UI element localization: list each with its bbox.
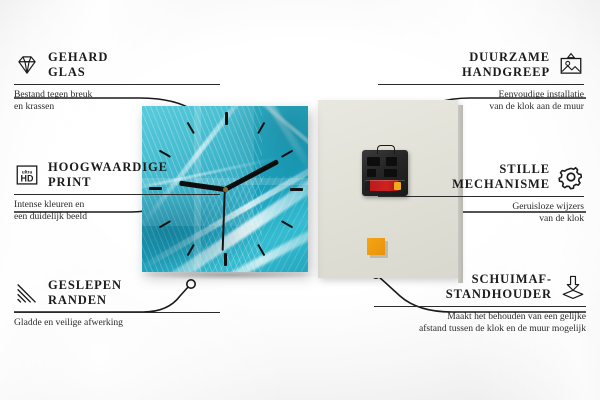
feature-description: Eenvoudige installatie van de klok aan d… (378, 89, 584, 113)
feature-description: Bestand tegen breuk en krassen (14, 89, 220, 113)
feature-title: GESLEPEN RANDEN (48, 278, 122, 307)
feature-desc-line1: Eenvoudige installatie (498, 89, 584, 100)
feature-title-line2: HANDGREEP (462, 65, 550, 79)
feature-divider (378, 84, 584, 85)
feature-title: GEHARD GLAS (48, 50, 108, 79)
feature-title-line1: STILLE (499, 162, 550, 176)
beveled-edge-icon (14, 280, 40, 306)
hour-marker (159, 150, 171, 158)
movement-slot (367, 169, 376, 177)
ultra-hd-icon: ultra HD (14, 162, 40, 188)
feature-desc-line2: een duidelijk beeld (14, 211, 87, 222)
hour-marker (187, 122, 195, 134)
feature-divider (378, 196, 584, 197)
feature-desc-line2: en krassen (14, 101, 54, 112)
feature-desc-line2: afstand tussen de klok en de muur mogeli… (419, 323, 586, 334)
feature-desc-line1: Maakt het behouden van een gelijke (447, 311, 586, 322)
hour-marker (257, 244, 265, 256)
feature-desc-line1: Gladde en veilige afwerking (14, 317, 123, 328)
foam-spacer-pad (367, 238, 385, 255)
feature-title-line2: PRINT (48, 175, 91, 189)
hour-marker (281, 150, 293, 158)
feature-title-line1: DUURZAME (469, 50, 550, 64)
feature-duurzame-handgreep: DUURZAME HANDGREEP Eenvoudige installati… (378, 50, 584, 113)
gear-icon (558, 164, 584, 190)
feature-desc-line1: Bestand tegen breuk (14, 89, 92, 100)
feature-title-line2: STANDHOUDER (446, 287, 552, 301)
feature-heading: GEHARD GLAS (14, 50, 220, 79)
ultra-hd-icon-bottom-text: HD (21, 173, 34, 183)
feature-title: HOOGWAARDIGE PRINT (48, 160, 168, 189)
feature-heading: ultra HD HOOGWAARDIGE PRINT (14, 160, 220, 189)
feature-heading: GESLEPEN RANDEN (14, 278, 220, 307)
feature-heading: SCHUIMAF- STANDHOUDER (374, 272, 586, 301)
feature-heading: STILLE MECHANISME (378, 162, 584, 191)
second-hand (222, 189, 226, 251)
hand-center-pin (223, 187, 228, 192)
feature-title-line1: GESLEPEN (48, 278, 122, 292)
hour-marker (290, 188, 303, 191)
hour-marker (257, 122, 265, 134)
hour-marker (225, 112, 228, 125)
infographic-canvas: GEHARD GLAS Bestand tegen breuk en krass… (0, 0, 600, 400)
feature-description: Intense kleuren en een duidelijk beeld (14, 199, 220, 223)
feature-desc-line1: Intense kleuren en (14, 199, 84, 210)
feature-divider (14, 312, 220, 313)
feature-desc-line2: van de klok aan de muur (489, 101, 584, 112)
feature-stille-mechanisme: STILLE MECHANISME Geruisloze wijzers van… (378, 162, 584, 225)
feature-gehard-glas: GEHARD GLAS Bestand tegen breuk en krass… (14, 50, 220, 113)
hour-marker (187, 244, 195, 256)
feature-title-line1: HOOGWAARDIGE (48, 160, 168, 174)
hanging-hook (377, 145, 395, 154)
feature-divider (14, 84, 220, 85)
hour-marker (281, 220, 293, 228)
feature-title-line1: GEHARD (48, 50, 108, 64)
feature-title: SCHUIMAF- STANDHOUDER (446, 272, 552, 301)
hour-marker (224, 253, 227, 266)
feature-hoogwaardige-print: ultra HD HOOGWAARDIGE PRINT Intense kleu… (14, 160, 220, 223)
feature-description: Gladde en veilige afwerking (14, 317, 220, 329)
feature-desc-line1: Geruisloze wijzers (512, 201, 584, 212)
feature-title-line2: RANDEN (48, 293, 107, 307)
hanging-picture-icon (558, 52, 584, 78)
feature-title-line2: MECHANISME (452, 177, 550, 191)
feature-desc-line2: van de klok (539, 213, 584, 224)
feature-geslepen-randen: GESLEPEN RANDEN Gladde en veilige afwerk… (14, 278, 220, 329)
feature-description: Maakt het behouden van een gelijke afsta… (374, 311, 586, 335)
feature-title: STILLE MECHANISME (452, 162, 550, 191)
feature-title: DUURZAME HANDGREEP (462, 50, 550, 79)
feature-title-line2: GLAS (48, 65, 86, 79)
feature-divider (374, 306, 586, 307)
feature-description: Geruisloze wijzers van de klok (378, 201, 584, 225)
minute-hand (224, 159, 279, 192)
feature-heading: DUURZAME HANDGREEP (378, 50, 584, 79)
feature-divider (14, 194, 220, 195)
feature-title-line1: SCHUIMAF- (472, 272, 552, 286)
press-down-icon (560, 274, 586, 300)
diamond-icon (14, 52, 40, 78)
feature-schuimaf-standhouder: SCHUIMAF- STANDHOUDER Maakt het behouden… (374, 272, 586, 335)
